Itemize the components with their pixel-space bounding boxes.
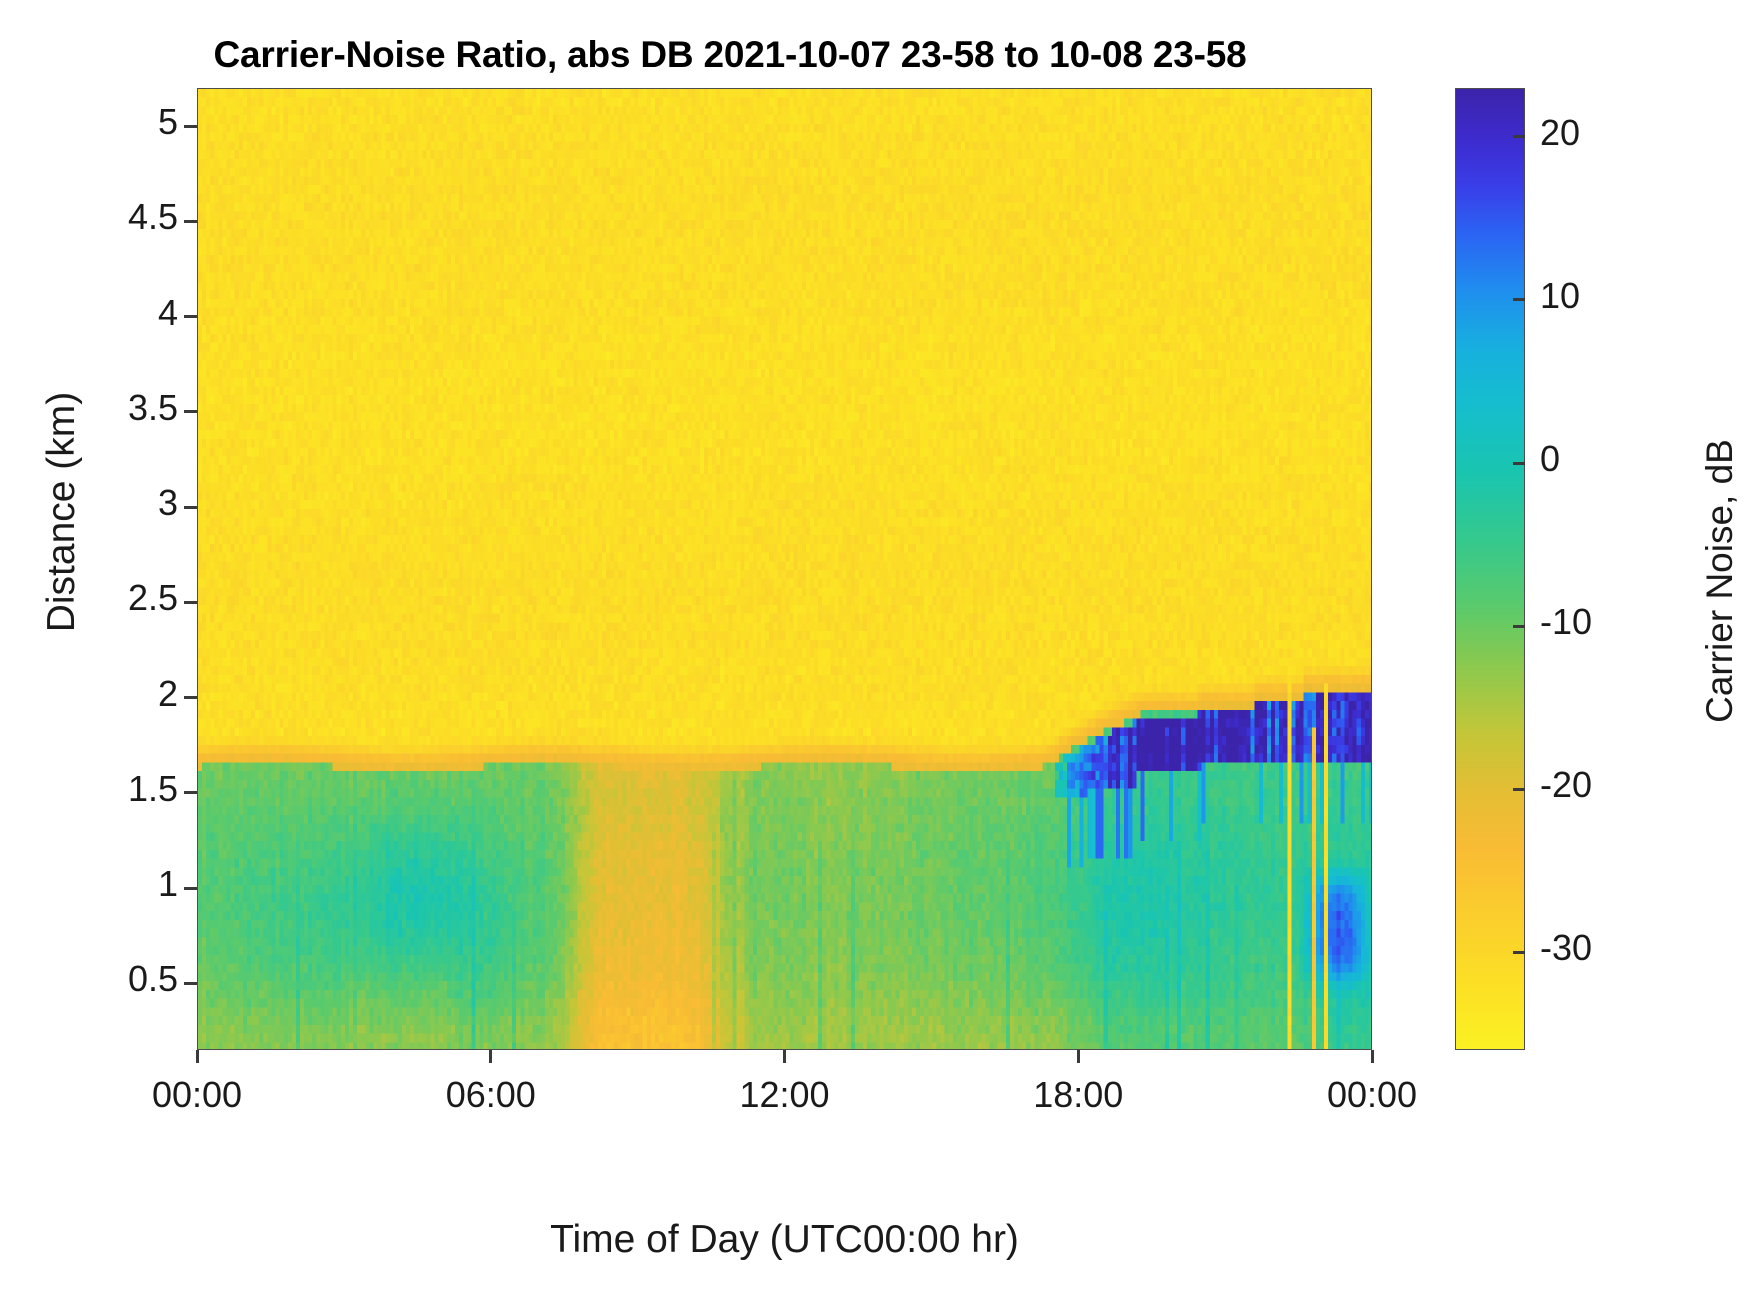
colorbar-tick-label: 0 xyxy=(1540,438,1560,480)
colorbar-gradient xyxy=(1456,89,1525,1050)
y-tick-label: 1.5 xyxy=(128,768,178,810)
x-tick-label: 00:00 xyxy=(1282,1074,1462,1116)
colorbar-tick-mark xyxy=(1513,462,1525,465)
x-tick-label: 00:00 xyxy=(107,1074,287,1116)
y-tick-mark xyxy=(184,410,197,413)
y-tick-mark xyxy=(184,791,197,794)
y-axis-label: Distance (km) xyxy=(40,212,84,812)
colorbar-tick-mark xyxy=(1513,951,1525,954)
y-tick-label: 3.5 xyxy=(128,387,178,429)
colorbar-tick-label: -30 xyxy=(1540,927,1592,969)
x-tick-label: 18:00 xyxy=(988,1074,1168,1116)
y-tick-mark xyxy=(184,125,197,128)
colorbar-tick-label: -20 xyxy=(1540,764,1592,806)
x-tick-mark xyxy=(1371,1050,1374,1063)
y-tick-label: 2 xyxy=(158,673,178,715)
colorbar-tick-mark xyxy=(1513,298,1525,301)
y-tick-label: 2.5 xyxy=(128,577,178,619)
colorbar-tick-label: 20 xyxy=(1540,112,1580,154)
y-tick-mark xyxy=(184,696,197,699)
y-tick-label: 4 xyxy=(158,292,178,334)
heatmap-axes[interactable] xyxy=(197,88,1372,1050)
x-axis-label: Time of Day (UTC00:00 hr) xyxy=(197,1218,1372,1262)
x-tick-label: 12:00 xyxy=(695,1074,875,1116)
y-tick-label: 1 xyxy=(158,863,178,905)
figure-root: Carrier-Noise Ratio, abs DB 2021-10-07 2… xyxy=(0,0,1750,1313)
y-tick-mark xyxy=(184,220,197,223)
x-tick-mark xyxy=(783,1050,786,1063)
y-tick-label: 0.5 xyxy=(128,958,178,1000)
y-tick-mark xyxy=(184,315,197,318)
y-tick-mark xyxy=(184,506,197,509)
colorbar-label: Carrier Noise, dB xyxy=(1699,281,1741,881)
y-tick-mark xyxy=(184,887,197,890)
colorbar-tick-label: -10 xyxy=(1540,601,1592,643)
chart-title: Carrier-Noise Ratio, abs DB 2021-10-07 2… xyxy=(0,34,1460,76)
heatmap-canvas[interactable] xyxy=(198,89,1372,1050)
y-tick-label: 3 xyxy=(158,482,178,524)
y-tick-label: 4.5 xyxy=(128,196,178,238)
colorbar-tick-mark xyxy=(1513,625,1525,628)
colorbar-tick-mark xyxy=(1513,788,1525,791)
colorbar-tick-label: 10 xyxy=(1540,275,1580,317)
y-tick-label: 5 xyxy=(158,101,178,143)
x-tick-mark xyxy=(1077,1050,1080,1063)
y-tick-mark xyxy=(184,982,197,985)
x-tick-label: 06:00 xyxy=(401,1074,581,1116)
colorbar-tick-mark xyxy=(1513,135,1525,138)
y-tick-mark xyxy=(184,601,197,604)
x-tick-mark xyxy=(489,1050,492,1063)
x-tick-mark xyxy=(196,1050,199,1063)
colorbar[interactable] xyxy=(1455,88,1525,1050)
